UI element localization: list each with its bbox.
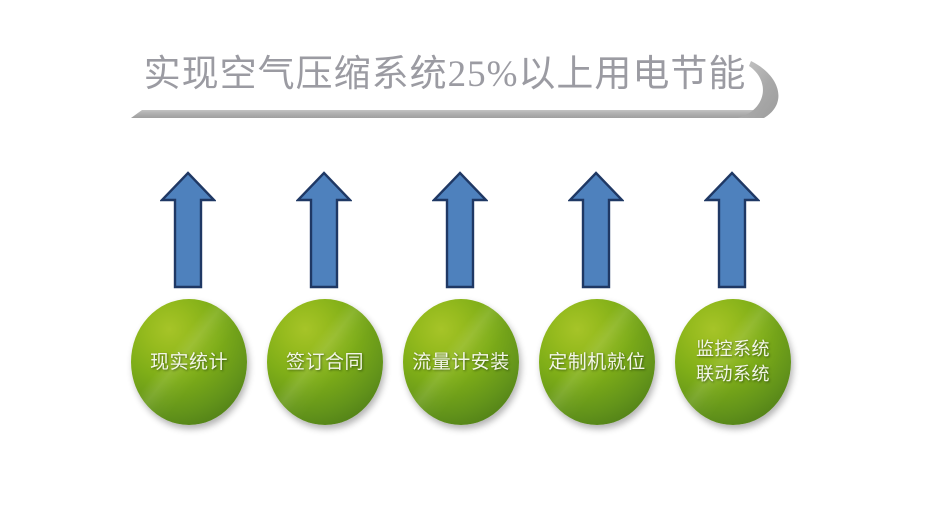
up-arrow-icon-2 xyxy=(296,171,352,289)
process-node-2[interactable]: 签订合同 xyxy=(267,299,383,425)
process-node-label-line: 流量计安装 xyxy=(412,350,510,375)
process-node-label-line: 现实统计 xyxy=(150,350,228,375)
process-node-label: 流量计安装 xyxy=(403,299,519,425)
up-arrow-icon-4 xyxy=(568,171,624,289)
process-node-label-line: 联动系统 xyxy=(696,362,770,387)
process-node-5[interactable]: 监控系统 联动系统 xyxy=(675,299,791,425)
up-arrow-icon-5 xyxy=(704,171,760,289)
slide-canvas: 实现空气压缩系统25%以上用电节能 现实统计 签订合同 流量计安装 xyxy=(0,0,945,529)
page-title: 实现空气压缩系统25%以上用电节能 xyxy=(135,44,755,106)
process-node-1[interactable]: 现实统计 xyxy=(131,299,247,425)
up-arrow-icon-3 xyxy=(432,171,488,289)
process-node-3[interactable]: 流量计安装 xyxy=(403,299,519,425)
process-node-label: 定制机就位 xyxy=(539,299,655,425)
process-node-label-line: 定制机就位 xyxy=(548,350,646,375)
title-banner: 实现空气压缩系统25%以上用电节能 xyxy=(0,0,945,160)
process-node-label-line: 监控系统 xyxy=(696,337,770,362)
process-node-4[interactable]: 定制机就位 xyxy=(539,299,655,425)
process-node-label: 监控系统 联动系统 xyxy=(675,299,791,425)
process-node-label: 签订合同 xyxy=(267,299,383,425)
process-node-label-line: 签订合同 xyxy=(286,350,364,375)
process-node-label: 现实统计 xyxy=(131,299,247,425)
up-arrow-icon-1 xyxy=(160,171,216,289)
